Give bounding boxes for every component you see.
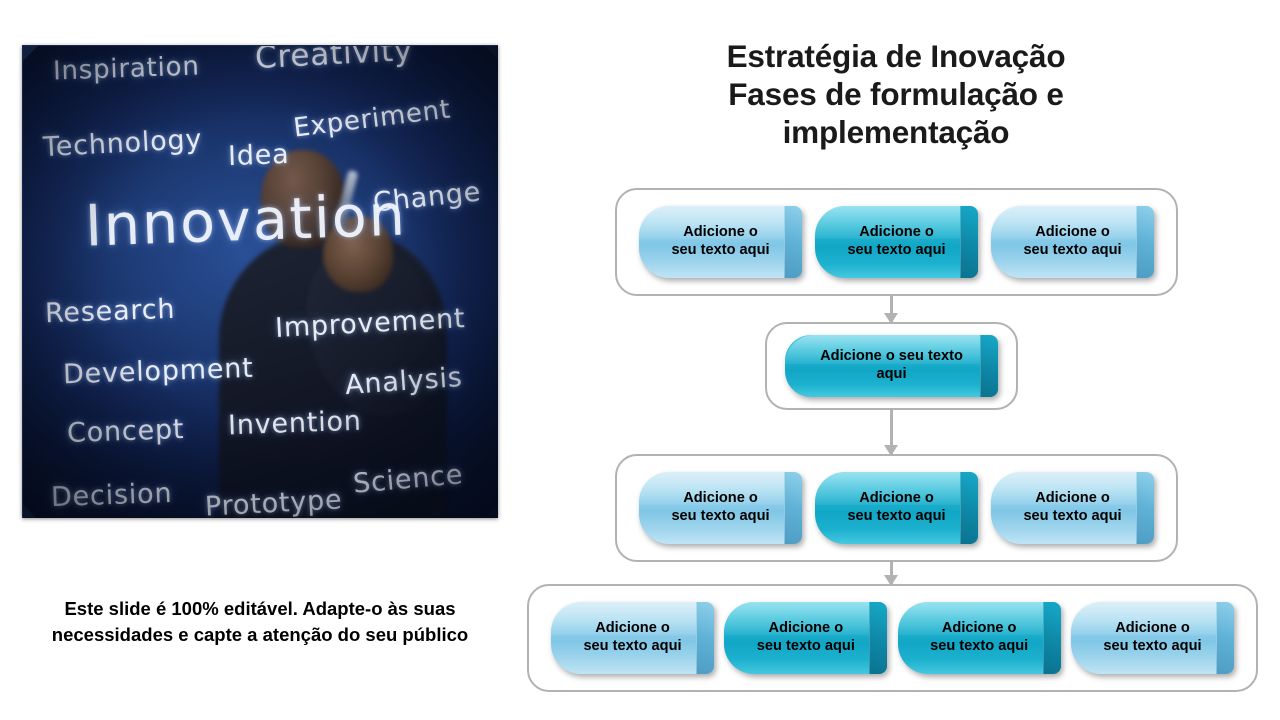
page-title: Estratégia de Inovação Fases de formulaç… <box>596 38 1196 151</box>
diagram-block-label: Adicione oseu texto aqui <box>837 224 955 260</box>
diagram-block[interactable]: Adicione oseu texto aqui <box>815 206 978 278</box>
diagram-block-label: Adicione oseu texto aqui <box>1013 490 1131 526</box>
page-title-line-2: Fases de formulação e <box>596 76 1196 114</box>
diagram-block[interactable]: Adicione oseu texto aqui <box>724 602 887 674</box>
diagram-block[interactable]: Adicione oseu texto aqui <box>639 206 802 278</box>
word-cloud-item: Experiment <box>292 94 453 143</box>
diagram-block[interactable]: Adicione oseu texto aqui <box>815 472 978 544</box>
word-cloud-item: Improvement <box>274 303 466 344</box>
word-cloud-item: Inspiration <box>53 51 201 86</box>
arrow-head <box>884 575 898 586</box>
diagram-block-label: Adicione oseu texto aqui <box>747 620 865 656</box>
word-cloud-item: Creativity <box>254 45 414 76</box>
diagram-row-1: Adicione oseu texto aquiAdicione oseu te… <box>615 188 1178 296</box>
word-cloud-item: Decision <box>50 478 172 513</box>
diagram-block-label: Adicione oseu texto aqui <box>573 620 691 656</box>
diagram-block-label: Adicione oseu texto aqui <box>837 490 955 526</box>
diagram-block-label: Adicione oseu texto aqui <box>1093 620 1211 656</box>
word-cloud-item: Analysis <box>344 362 464 401</box>
diagram-block[interactable]: Adicione o seu textoaqui <box>785 335 998 397</box>
diagram-row-4: Adicione oseu texto aquiAdicione oseu te… <box>527 584 1258 692</box>
diagram-block-label: Adicione oseu texto aqui <box>1013 224 1131 260</box>
word-cloud-item: Invention <box>227 406 362 442</box>
word-cloud-item: Idea <box>227 139 290 172</box>
diagram-row-2: Adicione o seu textoaqui <box>765 322 1018 410</box>
diagram-block[interactable]: Adicione oseu texto aqui <box>1071 602 1234 674</box>
word-cloud-item: Science <box>352 459 465 499</box>
diagram-block[interactable]: Adicione oseu texto aqui <box>991 206 1154 278</box>
diagram-block[interactable]: Adicione oseu texto aqui <box>639 472 802 544</box>
innovation-photo[interactable]: InspirationCreativityTechnologyIdeaExper… <box>22 45 498 518</box>
diagram-row-3: Adicione oseu texto aquiAdicione oseu te… <box>615 454 1178 562</box>
diagram-block[interactable]: Adicione oseu texto aqui <box>991 472 1154 544</box>
arrow-head <box>884 313 898 324</box>
slide-canvas: InspirationCreativityTechnologyIdeaExper… <box>0 0 1280 720</box>
page-title-line-1: Estratégia de Inovação <box>596 38 1196 76</box>
diagram-block[interactable]: Adicione oseu texto aqui <box>551 602 714 674</box>
page-title-line-3: implementação <box>596 114 1196 152</box>
diagram-block-label: Adicione oseu texto aqui <box>920 620 1038 656</box>
arrow-down-icon-2 <box>884 410 898 455</box>
diagram-block-label: Adicione o seu textoaqui <box>810 348 973 384</box>
diagram-block[interactable]: Adicione oseu texto aqui <box>898 602 1061 674</box>
diagram-block-label: Adicione oseu texto aqui <box>661 224 779 260</box>
slide-caption: Este slide é 100% editável. Adapte-o às … <box>22 596 498 647</box>
photo-surface: InspirationCreativityTechnologyIdeaExper… <box>22 45 498 518</box>
word-cloud-item: Prototype <box>204 484 343 518</box>
arrow-down-icon-1 <box>884 296 898 323</box>
word-cloud-item: Technology <box>42 124 203 163</box>
word-cloud-item: Concept <box>66 414 184 449</box>
word-cloud-item: Research <box>44 294 175 330</box>
word-cloud-item: Development <box>63 353 255 391</box>
word-cloud-item: Innovation <box>84 182 408 259</box>
diagram-block-label: Adicione oseu texto aqui <box>661 490 779 526</box>
arrow-down-icon-3 <box>884 562 898 585</box>
arrow-head <box>884 445 898 456</box>
